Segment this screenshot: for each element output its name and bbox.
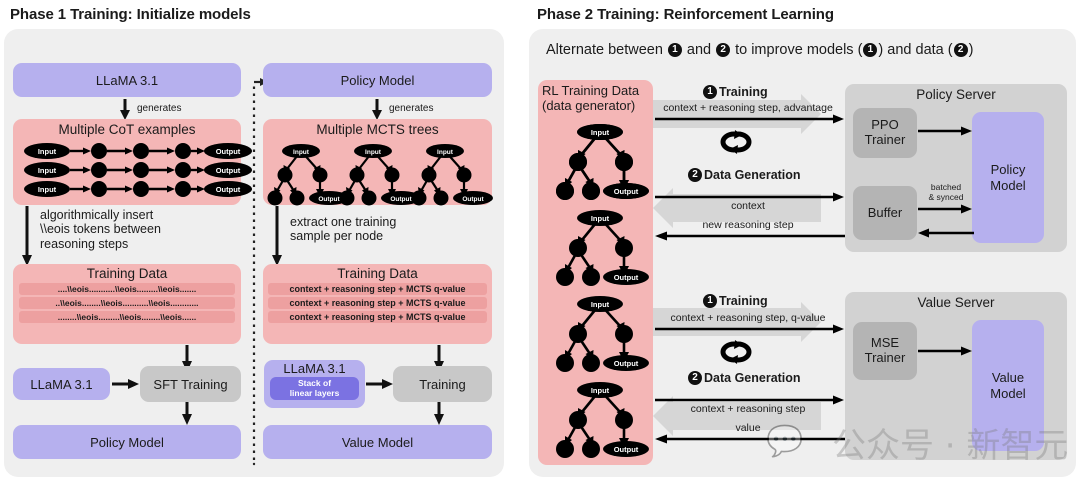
mse-to-value-model-arrow [918,346,974,356]
p1-left-training-data-box: Training Data ....\\eois...........\\eoi… [13,264,241,344]
value-training-text: Training [719,294,768,308]
policy-return-label: new reasoning step [653,219,843,231]
svg-text:Output: Output [216,147,241,156]
rl-training-data-box: RL Training Data (data generator) Input … [538,80,653,465]
context-row: context + reasoning step + MCTS q-value [268,311,487,323]
p1-left-generates-arrow [118,99,134,121]
buffer-sync-note: batched & synced [918,183,974,203]
cot-chains: Input Output [23,143,233,203]
context-row: context + reasoning step + MCTS q-value [268,283,487,295]
svg-text:Output: Output [318,196,340,203]
value-return-arrow [653,434,845,444]
phase2-alternate-caption: Alternate between 1 and 2 to improve mod… [546,38,1066,62]
eois-row: ..\\eois........\\eois...........\\eois.… [19,297,235,309]
step-one-badge: 1 [703,294,717,308]
eois-row: ....\\eois...........\\eois.........\\eo… [19,283,235,295]
rl-data-line1: RL Training Data [542,84,653,99]
value-datagen-text: Data Generation [704,371,801,385]
step-one-badge: 1 [703,85,717,99]
policy-training-arrow-text: context + reasoning step, advantage [653,102,843,114]
svg-text:Input: Input [38,147,57,156]
policy-new-step-arrow [653,231,845,241]
p1-sft-training-box[interactable]: SFT Training [140,366,241,402]
p1-right-training-data-title: Training Data [263,266,492,281]
policy-model-to-buffer-arrow [918,228,974,238]
policy-datagen-text: Data Generation [704,168,801,182]
p1-training-box[interactable]: Training [393,366,492,402]
ppo-to-policy-model-arrow [918,126,974,136]
alternate-text-d: ) and data ( [878,42,952,58]
value-server-title: Value Server [845,292,1067,310]
step-two-badge: 2 [716,43,730,57]
p1-cot-box: Multiple CoT examples Input Output [13,119,241,205]
rl-mcts-trees: Input Output [556,122,648,457]
alternate-text-c: to improve models ( [735,42,862,58]
alternate-text-a: Alternate between [546,42,663,58]
p1-left-policy-model-output[interactable]: Policy Model [13,425,241,459]
p1-cot-title: Multiple CoT examples [13,122,241,137]
context-row: context + reasoning step + MCTS q-value [268,297,487,309]
p1-right-policy-model-box[interactable]: Policy Model [263,63,492,97]
mcts-trees: Input Output [271,143,485,201]
p1-right-llama-box[interactable]: LLaMA 3.1 Stack of linear layers [264,360,365,408]
p1-left-training-data-title: Training Data [13,266,241,281]
policy-training-arrow [655,114,845,124]
p1-left-insert-arrow [20,206,36,268]
p1-left-llama-sft-input[interactable]: LLaMA 3.1 [13,368,110,400]
buffer-to-policy-model-arrow [918,204,974,214]
p1-right-generates-label: generates [389,103,433,114]
p1-mcts-title: Multiple MCTS trees [263,122,492,137]
value-context-label: context + reasoning step [653,403,843,415]
p1-mcts-box: Multiple MCTS trees Input Output [263,119,492,205]
value-step1-training-label: 1 Training [703,294,768,308]
phase1-title: Phase 1 Training: Initialize models [10,6,251,23]
p1-left-generates-label: generates [137,103,181,114]
step-two-badge: 2 [688,168,702,182]
value-training-arrow-text: context + reasoning step, q-value [653,312,843,324]
phase2-title: Phase 2 Training: Reinforcement Learning [537,6,834,23]
p1-left-llama-box[interactable]: LLaMA 3.1 [13,63,241,97]
policy-server-title: Policy Server [845,84,1067,102]
p1-insert-note: algorithmically insert \\eois tokens bet… [40,208,240,251]
p1-extract-note: extract one training sample per node [290,215,490,244]
step-two-badge: 2 [688,371,702,385]
p1-right-llama-to-training-arrow [366,376,394,392]
p1-right-llama-label: LLaMA 3.1 [264,361,365,376]
policy-step1-training-label: 1 Training [703,85,768,99]
alternate-text-b: and [687,42,711,58]
step-one-badge: 1 [668,43,682,57]
mse-trainer-box[interactable]: MSE Trainer [853,322,917,380]
value-return-label: value [653,422,843,434]
rl-training-data-title: RL Training Data (data generator) [538,80,653,113]
p1-right-training-to-value-arrow [432,402,448,426]
eois-row: ........\\eois.........\\eois........\\e… [19,311,235,323]
refresh-loop-icon [712,338,760,366]
svg-text:Input: Input [293,149,310,156]
policy-training-text: Training [719,85,768,99]
value-training-arrow [655,324,845,334]
value-step2-datagen-label: 2 Data Generation [688,371,801,385]
p1-value-model-output[interactable]: Value Model [263,425,492,459]
policy-model-box[interactable]: Policy Model [972,112,1044,243]
policy-context-label: context [653,200,843,212]
value-model-box[interactable]: Value Model [972,320,1044,451]
p1-left-sft-to-policy-arrow [180,402,196,426]
alternate-text-e: ) [969,42,974,58]
step-one-badge: 1 [863,43,877,57]
policy-step2-datagen-label: 2 Data Generation [688,168,801,182]
p1-right-llama-sub: Stack of linear layers [270,377,359,400]
buffer-box[interactable]: Buffer [853,186,917,240]
ppo-trainer-box[interactable]: PPO Trainer [853,108,917,158]
rl-data-line2: (data generator) [542,99,653,114]
p1-left-llama-to-sft-arrow [112,376,140,392]
p1-right-training-data-box: Training Data context + reasoning step +… [263,264,492,344]
p1-right-generates-arrow [370,99,386,121]
step-two-badge: 2 [954,43,968,57]
p1-right-extract-arrow [270,206,286,268]
refresh-loop-icon [712,128,760,156]
